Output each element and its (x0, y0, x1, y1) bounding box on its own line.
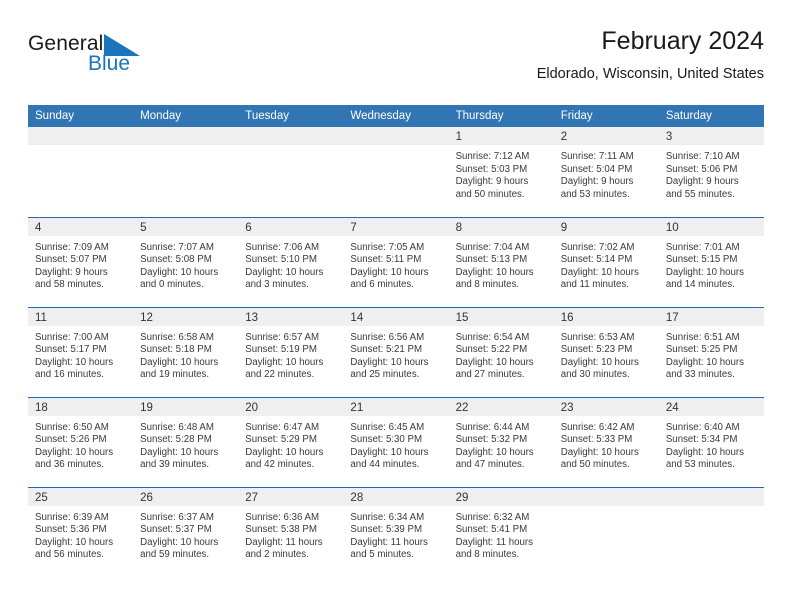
day-detail-line: Daylight: 10 hours (666, 357, 756, 370)
day-detail-line: and 6 minutes. (350, 279, 440, 292)
day-detail-line: Sunset: 5:06 PM (666, 164, 756, 177)
day-detail-line: Daylight: 10 hours (666, 267, 756, 280)
day-number: 26 (133, 488, 238, 506)
day-cell-7[interactable]: 7Sunrise: 7:05 AMSunset: 5:11 PMDaylight… (343, 217, 448, 307)
day-detail-line: Sunset: 5:21 PM (350, 344, 440, 357)
day-detail-line: and 2 minutes. (245, 549, 335, 562)
day-detail-line: and 14 minutes. (666, 279, 756, 292)
day-details: Sunrise: 6:51 AMSunset: 5:25 PMDaylight:… (659, 326, 764, 382)
day-number: 24 (659, 398, 764, 416)
day-detail-line: Sunset: 5:15 PM (666, 254, 756, 267)
day-detail-line: Daylight: 10 hours (35, 447, 125, 460)
day-detail-line: Sunrise: 6:32 AM (456, 512, 546, 525)
day-detail-line: and 19 minutes. (140, 369, 230, 382)
day-number: 16 (554, 308, 659, 326)
day-cell-9[interactable]: 9Sunrise: 7:02 AMSunset: 5:14 PMDaylight… (554, 217, 659, 307)
day-detail-line: Sunrise: 7:02 AM (561, 242, 651, 255)
day-detail-line: Sunrise: 6:51 AM (666, 332, 756, 345)
day-details: Sunrise: 6:48 AMSunset: 5:28 PMDaylight:… (133, 416, 238, 472)
day-number: 14 (343, 308, 448, 326)
day-detail-line: Daylight: 10 hours (245, 267, 335, 280)
day-detail-line: Sunset: 5:07 PM (35, 254, 125, 267)
day-cell-28[interactable]: 28Sunrise: 6:34 AMSunset: 5:39 PMDayligh… (343, 487, 448, 577)
day-number: 17 (659, 308, 764, 326)
day-details: Sunrise: 6:58 AMSunset: 5:18 PMDaylight:… (133, 326, 238, 382)
day-cell-empty (28, 127, 133, 217)
day-cell-12[interactable]: 12Sunrise: 6:58 AMSunset: 5:18 PMDayligh… (133, 307, 238, 397)
calendar-week-row: 11Sunrise: 7:00 AMSunset: 5:17 PMDayligh… (28, 307, 764, 397)
day-detail-line: Daylight: 10 hours (350, 447, 440, 460)
day-detail-line: Sunset: 5:41 PM (456, 524, 546, 537)
day-detail-line: Sunrise: 7:12 AM (456, 151, 546, 164)
calendar-week-row: 4Sunrise: 7:09 AMSunset: 5:07 PMDaylight… (28, 217, 764, 307)
day-detail-line: and 59 minutes. (140, 549, 230, 562)
day-detail-line: and 58 minutes. (35, 279, 125, 292)
day-details: Sunrise: 6:42 AMSunset: 5:33 PMDaylight:… (554, 416, 659, 472)
day-details: Sunrise: 7:12 AMSunset: 5:03 PMDaylight:… (449, 145, 554, 201)
day-cell-empty (238, 127, 343, 217)
day-details: Sunrise: 6:50 AMSunset: 5:26 PMDaylight:… (28, 416, 133, 472)
day-number: 7 (343, 218, 448, 236)
day-cell-2[interactable]: 2Sunrise: 7:11 AMSunset: 5:04 PMDaylight… (554, 127, 659, 217)
day-cell-20[interactable]: 20Sunrise: 6:47 AMSunset: 5:29 PMDayligh… (238, 397, 343, 487)
day-details: Sunrise: 7:01 AMSunset: 5:15 PMDaylight:… (659, 236, 764, 292)
day-detail-line: Sunset: 5:10 PM (245, 254, 335, 267)
weekday-header-tuesday: Tuesday (238, 105, 343, 127)
day-detail-line: Sunrise: 7:05 AM (350, 242, 440, 255)
day-detail-line: and 8 minutes. (456, 549, 546, 562)
sunrise-sunset-calendar: SundayMondayTuesdayWednesdayThursdayFrid… (28, 105, 764, 577)
day-detail-line: and 42 minutes. (245, 459, 335, 472)
day-cell-15[interactable]: 15Sunrise: 6:54 AMSunset: 5:22 PMDayligh… (449, 307, 554, 397)
day-detail-line: Daylight: 10 hours (561, 447, 651, 460)
day-detail-line: Daylight: 11 hours (245, 537, 335, 550)
day-detail-line: Sunrise: 7:04 AM (456, 242, 546, 255)
general-blue-logo[interactable]: General Blue (28, 32, 178, 88)
day-number: 19 (133, 398, 238, 416)
day-detail-line: Sunrise: 6:39 AM (35, 512, 125, 525)
day-detail-line: Sunrise: 6:50 AM (35, 422, 125, 435)
day-detail-line: Sunset: 5:37 PM (140, 524, 230, 537)
day-detail-line: and 0 minutes. (140, 279, 230, 292)
day-cell-16[interactable]: 16Sunrise: 6:53 AMSunset: 5:23 PMDayligh… (554, 307, 659, 397)
day-detail-line: and 50 minutes. (561, 459, 651, 472)
day-detail-line: Sunset: 5:18 PM (140, 344, 230, 357)
day-detail-line: Sunset: 5:14 PM (561, 254, 651, 267)
day-details: Sunrise: 7:05 AMSunset: 5:11 PMDaylight:… (343, 236, 448, 292)
day-detail-line: and 3 minutes. (245, 279, 335, 292)
day-details (238, 145, 343, 151)
day-detail-line: and 5 minutes. (350, 549, 440, 562)
day-details (659, 506, 764, 512)
day-number: 22 (449, 398, 554, 416)
day-number: 25 (28, 488, 133, 506)
day-detail-line: Sunset: 5:36 PM (35, 524, 125, 537)
day-detail-line: Daylight: 10 hours (245, 447, 335, 460)
day-detail-line: Sunset: 5:17 PM (35, 344, 125, 357)
day-detail-line: and 22 minutes. (245, 369, 335, 382)
day-cell-24[interactable]: 24Sunrise: 6:40 AMSunset: 5:34 PMDayligh… (659, 397, 764, 487)
day-number: 2 (554, 127, 659, 145)
day-cell-5[interactable]: 5Sunrise: 7:07 AMSunset: 5:08 PMDaylight… (133, 217, 238, 307)
day-detail-line: Sunset: 5:11 PM (350, 254, 440, 267)
weekday-header-thursday: Thursday (449, 105, 554, 127)
day-cell-1[interactable]: 1Sunrise: 7:12 AMSunset: 5:03 PMDaylight… (449, 127, 554, 217)
day-detail-line: Sunrise: 6:42 AM (561, 422, 651, 435)
day-cell-29[interactable]: 29Sunrise: 6:32 AMSunset: 5:41 PMDayligh… (449, 487, 554, 577)
day-number (28, 127, 133, 145)
day-detail-line: Daylight: 10 hours (35, 537, 125, 550)
day-details: Sunrise: 6:56 AMSunset: 5:21 PMDaylight:… (343, 326, 448, 382)
day-detail-line: Sunset: 5:28 PM (140, 434, 230, 447)
day-number: 18 (28, 398, 133, 416)
day-detail-line: Sunset: 5:33 PM (561, 434, 651, 447)
day-cell-21[interactable]: 21Sunrise: 6:45 AMSunset: 5:30 PMDayligh… (343, 397, 448, 487)
day-number: 20 (238, 398, 343, 416)
day-cell-17[interactable]: 17Sunrise: 6:51 AMSunset: 5:25 PMDayligh… (659, 307, 764, 397)
day-detail-line: Sunset: 5:30 PM (350, 434, 440, 447)
day-detail-line: Sunset: 5:39 PM (350, 524, 440, 537)
day-detail-line: and 27 minutes. (456, 369, 546, 382)
day-detail-line: and 16 minutes. (35, 369, 125, 382)
day-detail-line: Sunrise: 6:37 AM (140, 512, 230, 525)
day-number (238, 127, 343, 145)
day-cell-6[interactable]: 6Sunrise: 7:06 AMSunset: 5:10 PMDaylight… (238, 217, 343, 307)
day-number: 28 (343, 488, 448, 506)
day-detail-line: Sunrise: 6:57 AM (245, 332, 335, 345)
day-cell-27[interactable]: 27Sunrise: 6:36 AMSunset: 5:38 PMDayligh… (238, 487, 343, 577)
day-number: 21 (343, 398, 448, 416)
day-details: Sunrise: 7:06 AMSunset: 5:10 PMDaylight:… (238, 236, 343, 292)
day-detail-line: Daylight: 10 hours (456, 357, 546, 370)
day-detail-line: Sunset: 5:34 PM (666, 434, 756, 447)
calendar-body: 1Sunrise: 7:12 AMSunset: 5:03 PMDaylight… (28, 127, 764, 577)
day-detail-line: and 44 minutes. (350, 459, 440, 472)
day-cell-4[interactable]: 4Sunrise: 7:09 AMSunset: 5:07 PMDaylight… (28, 217, 133, 307)
day-detail-line: and 25 minutes. (350, 369, 440, 382)
day-detail-line: Sunrise: 7:09 AM (35, 242, 125, 255)
day-detail-line: Sunrise: 6:58 AM (140, 332, 230, 345)
day-detail-line: and 36 minutes. (35, 459, 125, 472)
weekday-header-row: SundayMondayTuesdayWednesdayThursdayFrid… (28, 105, 764, 127)
day-details: Sunrise: 6:53 AMSunset: 5:23 PMDaylight:… (554, 326, 659, 382)
day-detail-line: Daylight: 10 hours (350, 357, 440, 370)
day-number (554, 488, 659, 506)
day-detail-line: Sunrise: 7:10 AM (666, 151, 756, 164)
day-details: Sunrise: 6:44 AMSunset: 5:32 PMDaylight:… (449, 416, 554, 472)
day-details (554, 506, 659, 512)
day-details: Sunrise: 6:34 AMSunset: 5:39 PMDaylight:… (343, 506, 448, 562)
day-number: 23 (554, 398, 659, 416)
day-cell-25[interactable]: 25Sunrise: 6:39 AMSunset: 5:36 PMDayligh… (28, 487, 133, 577)
day-details (343, 145, 448, 151)
day-detail-line: and 53 minutes. (666, 459, 756, 472)
day-detail-line: Sunrise: 6:56 AM (350, 332, 440, 345)
day-detail-line: Daylight: 10 hours (666, 447, 756, 460)
day-detail-line: Sunset: 5:38 PM (245, 524, 335, 537)
day-detail-line: Daylight: 10 hours (140, 447, 230, 460)
day-detail-line: Sunset: 5:25 PM (666, 344, 756, 357)
day-detail-line: Sunrise: 6:48 AM (140, 422, 230, 435)
day-details: Sunrise: 7:04 AMSunset: 5:13 PMDaylight:… (449, 236, 554, 292)
day-detail-line: Daylight: 10 hours (35, 357, 125, 370)
day-detail-line: Sunrise: 6:44 AM (456, 422, 546, 435)
day-detail-line: Daylight: 10 hours (140, 537, 230, 550)
calendar-page: General Blue February 2024 Eldorado, Wis… (0, 0, 792, 612)
day-number: 29 (449, 488, 554, 506)
day-number: 27 (238, 488, 343, 506)
weekday-header-friday: Friday (554, 105, 659, 127)
day-detail-line: Sunset: 5:19 PM (245, 344, 335, 357)
day-detail-line: Sunrise: 6:40 AM (666, 422, 756, 435)
location-subtitle: Eldorado, Wisconsin, United States (537, 63, 764, 85)
day-detail-line: Daylight: 10 hours (140, 357, 230, 370)
day-detail-line: Daylight: 10 hours (561, 357, 651, 370)
day-detail-line: Sunrise: 6:53 AM (561, 332, 651, 345)
day-details: Sunrise: 7:09 AMSunset: 5:07 PMDaylight:… (28, 236, 133, 292)
weekday-header-wednesday: Wednesday (343, 105, 448, 127)
day-cell-empty (343, 127, 448, 217)
day-details: Sunrise: 7:10 AMSunset: 5:06 PMDaylight:… (659, 145, 764, 201)
day-cell-empty (659, 487, 764, 577)
day-details: Sunrise: 6:37 AMSunset: 5:37 PMDaylight:… (133, 506, 238, 562)
day-number: 15 (449, 308, 554, 326)
day-detail-line: Sunrise: 6:36 AM (245, 512, 335, 525)
day-details: Sunrise: 6:36 AMSunset: 5:38 PMDaylight:… (238, 506, 343, 562)
day-detail-line: Daylight: 9 hours (35, 267, 125, 280)
day-number (133, 127, 238, 145)
day-number: 8 (449, 218, 554, 236)
day-detail-line: and 53 minutes. (561, 189, 651, 202)
day-detail-line: Sunrise: 7:01 AM (666, 242, 756, 255)
day-details: Sunrise: 6:40 AMSunset: 5:34 PMDaylight:… (659, 416, 764, 472)
day-detail-line: and 47 minutes. (456, 459, 546, 472)
day-detail-line: Daylight: 11 hours (456, 537, 546, 550)
weekday-header-sunday: Sunday (28, 105, 133, 127)
day-number: 12 (133, 308, 238, 326)
day-detail-line: Sunset: 5:26 PM (35, 434, 125, 447)
day-number: 10 (659, 218, 764, 236)
day-details: Sunrise: 6:54 AMSunset: 5:22 PMDaylight:… (449, 326, 554, 382)
day-details (133, 145, 238, 151)
day-details: Sunrise: 6:45 AMSunset: 5:30 PMDaylight:… (343, 416, 448, 472)
day-detail-line: Sunset: 5:23 PM (561, 344, 651, 357)
day-detail-line: and 30 minutes. (561, 369, 651, 382)
day-number (343, 127, 448, 145)
day-detail-line: Sunrise: 7:11 AM (561, 151, 651, 164)
page-header: General Blue February 2024 Eldorado, Wis… (28, 26, 764, 100)
day-details: Sunrise: 7:11 AMSunset: 5:04 PMDaylight:… (554, 145, 659, 201)
day-number: 13 (238, 308, 343, 326)
day-detail-line: and 39 minutes. (140, 459, 230, 472)
day-cell-10[interactable]: 10Sunrise: 7:01 AMSunset: 5:15 PMDayligh… (659, 217, 764, 307)
day-detail-line: Daylight: 10 hours (456, 267, 546, 280)
calendar-week-row: 1Sunrise: 7:12 AMSunset: 5:03 PMDaylight… (28, 127, 764, 217)
day-detail-line: Sunrise: 7:06 AM (245, 242, 335, 255)
day-detail-line: and 8 minutes. (456, 279, 546, 292)
day-detail-line: Sunset: 5:04 PM (561, 164, 651, 177)
day-details: Sunrise: 6:47 AMSunset: 5:29 PMDaylight:… (238, 416, 343, 472)
weekday-header-saturday: Saturday (659, 105, 764, 127)
day-detail-line: Sunset: 5:08 PM (140, 254, 230, 267)
weekday-header-monday: Monday (133, 105, 238, 127)
day-cell-26[interactable]: 26Sunrise: 6:37 AMSunset: 5:37 PMDayligh… (133, 487, 238, 577)
day-detail-line: Sunrise: 7:07 AM (140, 242, 230, 255)
day-detail-line: Sunset: 5:32 PM (456, 434, 546, 447)
day-detail-line: Sunrise: 6:47 AM (245, 422, 335, 435)
day-detail-line: and 33 minutes. (666, 369, 756, 382)
day-detail-line: and 55 minutes. (666, 189, 756, 202)
day-detail-line: Daylight: 10 hours (456, 447, 546, 460)
calendar-week-row: 18Sunrise: 6:50 AMSunset: 5:26 PMDayligh… (28, 397, 764, 487)
page-title: February 2024 (537, 26, 764, 56)
day-cell-18[interactable]: 18Sunrise: 6:50 AMSunset: 5:26 PMDayligh… (28, 397, 133, 487)
day-detail-line: Sunrise: 6:34 AM (350, 512, 440, 525)
day-number: 11 (28, 308, 133, 326)
day-number (659, 488, 764, 506)
day-details (28, 145, 133, 151)
day-detail-line: Daylight: 9 hours (561, 176, 651, 189)
day-details: Sunrise: 6:57 AMSunset: 5:19 PMDaylight:… (238, 326, 343, 382)
day-number: 3 (659, 127, 764, 145)
day-detail-line: Sunset: 5:22 PM (456, 344, 546, 357)
day-detail-line: Sunset: 5:29 PM (245, 434, 335, 447)
day-details: Sunrise: 7:02 AMSunset: 5:14 PMDaylight:… (554, 236, 659, 292)
day-details: Sunrise: 7:00 AMSunset: 5:17 PMDaylight:… (28, 326, 133, 382)
day-number: 4 (28, 218, 133, 236)
day-detail-line: Daylight: 11 hours (350, 537, 440, 550)
day-cell-19[interactable]: 19Sunrise: 6:48 AMSunset: 5:28 PMDayligh… (133, 397, 238, 487)
day-detail-line: Sunrise: 6:54 AM (456, 332, 546, 345)
day-cell-8[interactable]: 8Sunrise: 7:04 AMSunset: 5:13 PMDaylight… (449, 217, 554, 307)
day-cell-3[interactable]: 3Sunrise: 7:10 AMSunset: 5:06 PMDaylight… (659, 127, 764, 217)
day-detail-line: Sunrise: 6:45 AM (350, 422, 440, 435)
day-details: Sunrise: 6:32 AMSunset: 5:41 PMDaylight:… (449, 506, 554, 562)
day-detail-line: Daylight: 10 hours (350, 267, 440, 280)
day-detail-line: and 11 minutes. (561, 279, 651, 292)
day-details: Sunrise: 6:39 AMSunset: 5:36 PMDaylight:… (28, 506, 133, 562)
title-block: February 2024 Eldorado, Wisconsin, Unite… (537, 26, 764, 85)
day-cell-22[interactable]: 22Sunrise: 6:44 AMSunset: 5:32 PMDayligh… (449, 397, 554, 487)
day-detail-line: and 50 minutes. (456, 189, 546, 202)
day-cell-13[interactable]: 13Sunrise: 6:57 AMSunset: 5:19 PMDayligh… (238, 307, 343, 397)
day-details: Sunrise: 7:07 AMSunset: 5:08 PMDaylight:… (133, 236, 238, 292)
day-cell-23[interactable]: 23Sunrise: 6:42 AMSunset: 5:33 PMDayligh… (554, 397, 659, 487)
day-detail-line: Daylight: 9 hours (456, 176, 546, 189)
day-cell-11[interactable]: 11Sunrise: 7:00 AMSunset: 5:17 PMDayligh… (28, 307, 133, 397)
day-detail-line: and 56 minutes. (35, 549, 125, 562)
day-detail-line: Daylight: 9 hours (666, 176, 756, 189)
day-number: 1 (449, 127, 554, 145)
day-detail-line: Daylight: 10 hours (561, 267, 651, 280)
calendar-week-row: 25Sunrise: 6:39 AMSunset: 5:36 PMDayligh… (28, 487, 764, 577)
day-detail-line: Sunrise: 7:00 AM (35, 332, 125, 345)
day-number: 6 (238, 218, 343, 236)
day-number: 9 (554, 218, 659, 236)
logo-text-blue: Blue (88, 52, 130, 76)
day-detail-line: Sunset: 5:03 PM (456, 164, 546, 177)
day-detail-line: Daylight: 10 hours (140, 267, 230, 280)
day-number: 5 (133, 218, 238, 236)
day-detail-line: Sunset: 5:13 PM (456, 254, 546, 267)
day-cell-empty (554, 487, 659, 577)
day-detail-line: Daylight: 10 hours (245, 357, 335, 370)
day-cell-14[interactable]: 14Sunrise: 6:56 AMSunset: 5:21 PMDayligh… (343, 307, 448, 397)
day-cell-empty (133, 127, 238, 217)
